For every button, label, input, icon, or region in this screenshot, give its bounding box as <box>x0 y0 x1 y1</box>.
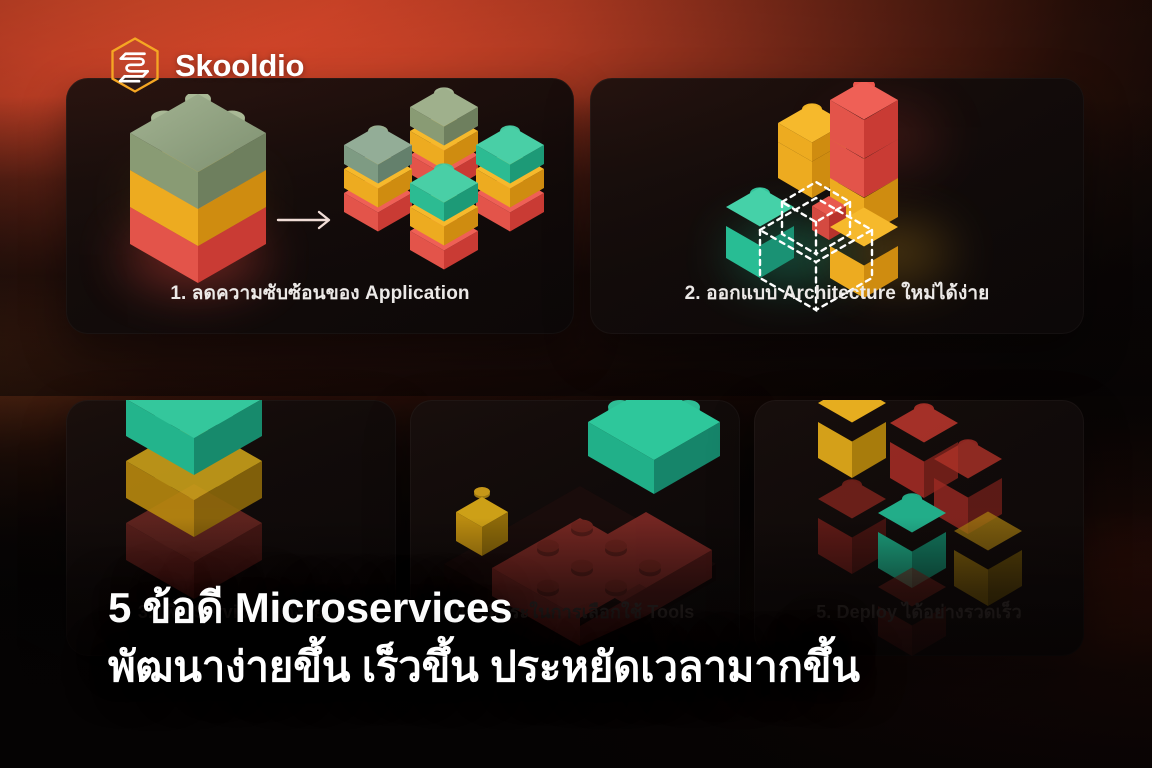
poster-canvas: Skooldio <box>0 0 1152 768</box>
brand-name: Skooldio <box>175 50 304 81</box>
headline: 5 ข้อดี Microservices พัฒนาง่ายขึ้น เร็ว… <box>108 583 860 692</box>
benefit-card-1[interactable]: 1. ลดความซับซ้อนของ Application <box>66 78 574 334</box>
arrow-right-icon <box>276 208 338 237</box>
headline-line-1: 5 ข้อดี Microservices <box>108 583 860 633</box>
hexagon-stacked-books-icon <box>108 36 162 94</box>
headline-line-2: พัฒนาง่ายขึ้น เร็วขึ้น ประหยัดเวลามากขึ้… <box>108 642 860 692</box>
brand-logo[interactable]: Skooldio <box>108 36 304 94</box>
card-2-caption: 2. ออกแบบ Architecture ใหม่ได้ง่าย <box>590 278 1084 308</box>
benefit-card-2[interactable]: 2. ออกแบบ Architecture ใหม่ได้ง่าย <box>590 78 1084 334</box>
card-1-caption: 1. ลดความซับซ้อนของ Application <box>66 278 574 308</box>
